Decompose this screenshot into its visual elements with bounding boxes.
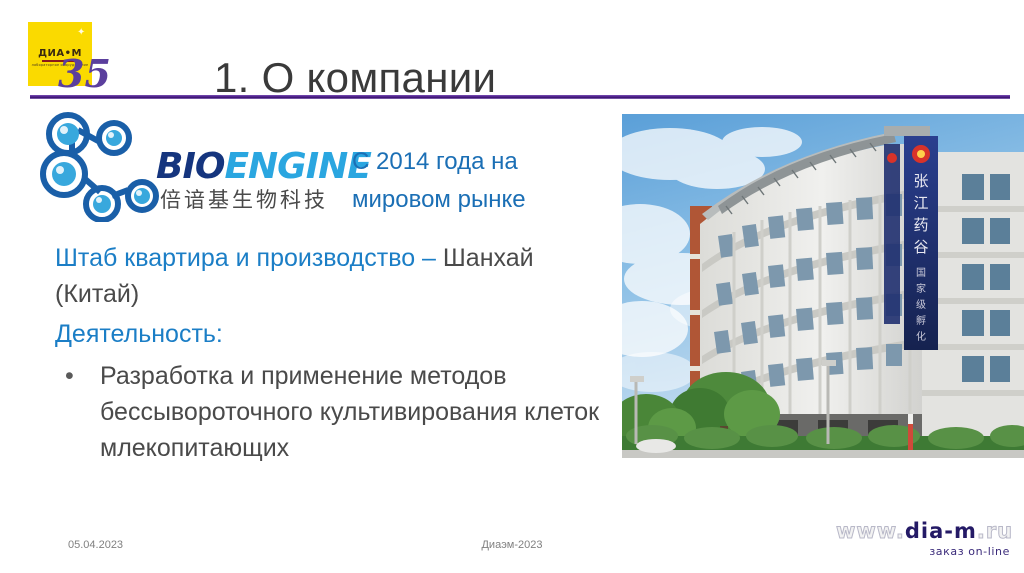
svg-text:国: 国 [916,267,926,279]
headquarters-label: Штаб квартира и производство – [55,244,443,272]
bioengine-chinese-name: 倍谙基生物科技 [160,188,328,212]
list-item: • Разработка и применение методов бессыв… [55,358,615,466]
website-domain: dia-m [905,519,977,543]
svg-text:家: 家 [916,282,926,295]
website-tld: .ru [977,519,1013,543]
headquarters-country: (Китай) [55,276,615,312]
bullet-marker-icon: • [65,358,74,394]
svg-text:张: 张 [913,172,928,190]
bioengine-wordmark: BIOENGINE [156,148,371,186]
presentation-slide: ✦ ДИА•М лабораторное оборудование 35 1. … [0,0,1024,573]
website-url: www.dia-m.ru [836,519,1013,544]
svg-text:化: 化 [916,330,926,343]
svg-text:级: 级 [916,299,926,311]
header-divider [30,95,1010,99]
bioengine-word-bio: BIO [156,146,224,187]
headquarters-city: Шанхай [443,244,534,272]
building-photo: 张 江 药 谷 国 家 级 孵 化 [622,114,1024,458]
bioengine-word-engine: ENGINE [224,146,370,187]
anniversary-badge: 35 [58,55,111,93]
list-item-label: Разработка и применение методов бессывор… [100,358,605,466]
svg-text:谷: 谷 [913,238,928,256]
website-www: www. [836,519,905,543]
molecular-cluster-icon [38,112,166,222]
headquarters-line: Штаб квартира и производство – Шанхай [55,240,615,276]
body-content: Штаб квартира и производство – Шанхай (К… [55,240,615,466]
svg-text:孵: 孵 [916,314,926,327]
svg-text:江: 江 [913,194,928,212]
activity-label: Деятельность: [55,316,615,352]
sparkle-icon: ✦ [77,29,84,36]
website-tagline: заказ on-line [929,545,1010,559]
svg-text:药: 药 [913,216,928,234]
tagline-text: С 2014 года на мировом рынке [352,143,602,219]
website-logo[interactable]: www.dia-m.ru заказ on-line [836,519,1012,563]
